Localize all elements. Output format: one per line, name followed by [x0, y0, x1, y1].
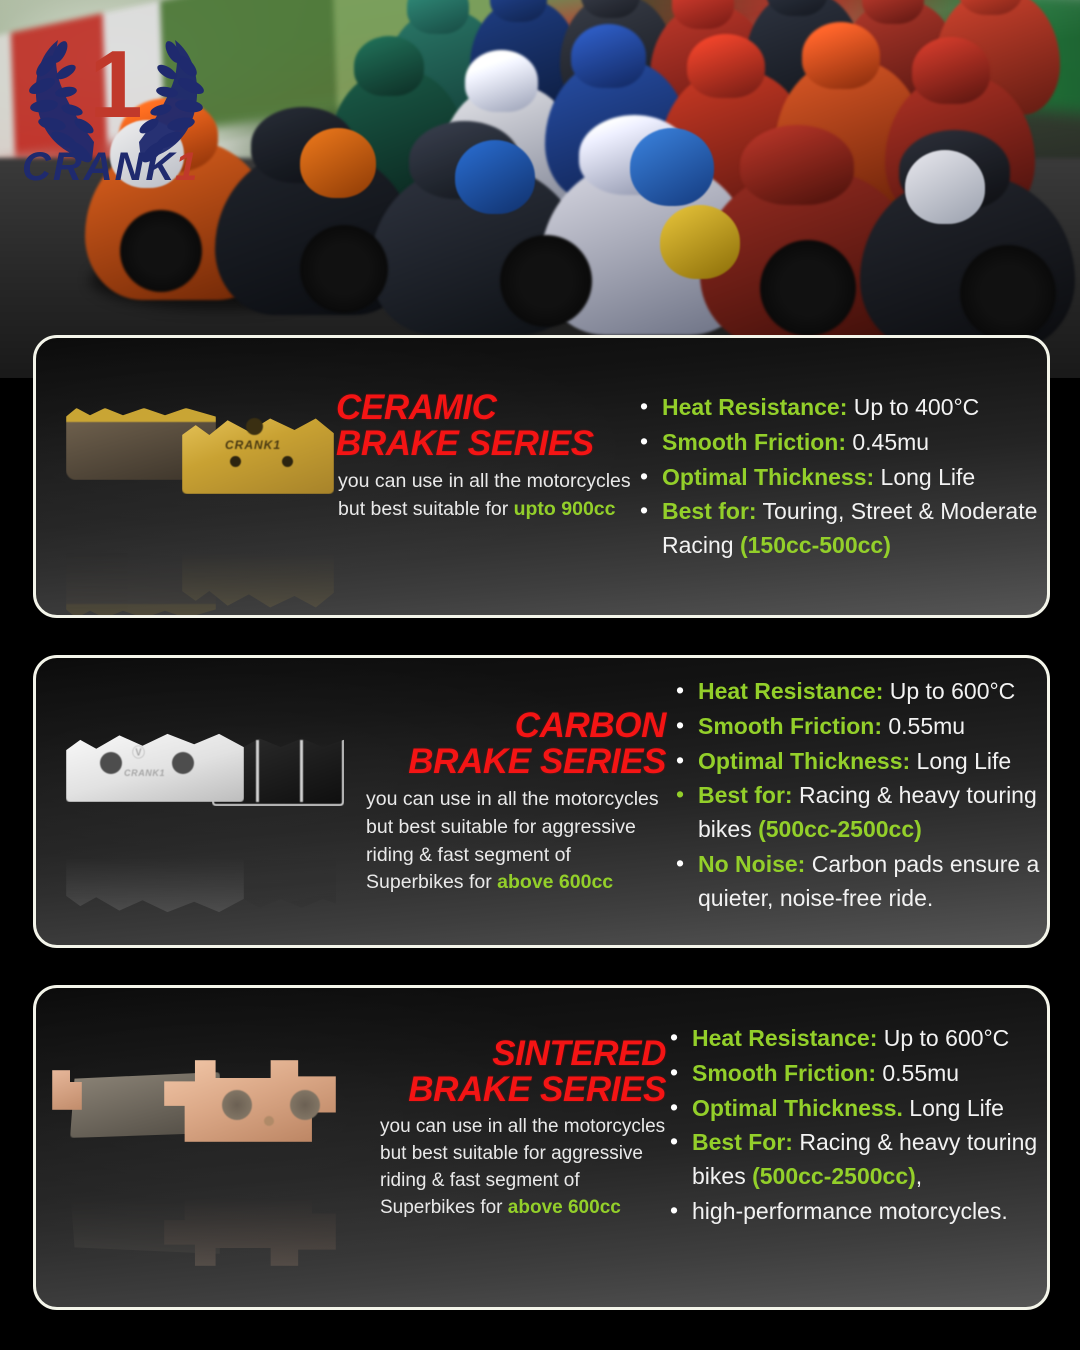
ceramic-spec-list: Heat Resistance: Up to 400°C Smooth Fric…	[636, 391, 1039, 563]
wheel-icon	[500, 235, 592, 327]
carbon-description: you can use in all the motorcycles but b…	[340, 786, 666, 897]
brake-pad-friction-slot	[256, 740, 259, 802]
helmet-icon	[905, 150, 985, 224]
brake-pad-rivet	[282, 456, 293, 467]
spec-value: Up to 600°C	[877, 1025, 1009, 1051]
spec-key: Best for:	[662, 498, 757, 524]
spec-cc-range: (150cc-500cc)	[740, 532, 891, 558]
spec-value: Long Life	[903, 1095, 1004, 1121]
spec-key: Smooth Friction:	[662, 429, 846, 455]
carbon-description-highlight: above 600cc	[497, 871, 613, 893]
helmet-icon	[660, 205, 740, 279]
spec-item: Smooth Friction: 0.55mu	[672, 710, 1047, 744]
wheel-icon	[960, 245, 1056, 341]
spec-value: 0.45mu	[846, 429, 929, 455]
spec-item: Optimal Thickness. Long Life	[666, 1092, 1047, 1126]
carbon-title-line1: CARBON	[515, 706, 666, 745]
brake-pad-engraving: Ⓥ	[132, 746, 145, 759]
ceramic-description: you can use in all the motorcycles but b…	[336, 468, 636, 523]
sintered-heading-block: SINTERED BRAKE SERIES you can use in all…	[336, 988, 666, 1307]
spec-tail: ,	[916, 1163, 922, 1189]
brake-pad-rivet	[264, 1116, 274, 1126]
spec-value: Long Life	[874, 464, 975, 490]
ceramic-title-line1: CERAMIC	[336, 388, 497, 427]
spec-key: Heat Resistance:	[692, 1025, 877, 1051]
brand-wordmark-accent: 1	[175, 145, 197, 184]
helmet-icon	[300, 128, 376, 198]
sintered-title-line2: BRAKE SERIES	[408, 1070, 666, 1109]
ceramic-title-line2: BRAKE SERIES	[336, 424, 594, 463]
spec-item: Optimal Thickness: Long Life	[636, 461, 1039, 495]
product-card-sintered[interactable]: SINTERED BRAKE SERIES you can use in all…	[33, 985, 1050, 1310]
spec-item: Heat Resistance: Up to 400°C	[636, 391, 1039, 425]
ceramic-heading-block: CERAMIC BRAKE SERIES you can use in all …	[336, 338, 636, 615]
spec-item: Heat Resistance: Up to 600°C	[666, 1022, 1047, 1056]
spec-item: Best For: Racing & heavy touring bikes (…	[666, 1126, 1047, 1194]
spec-key: Smooth Friction:	[692, 1060, 876, 1086]
brake-pad-hole	[222, 1090, 252, 1120]
wreath-number: 1	[89, 31, 142, 138]
ceramic-specs: Heat Resistance: Up to 400°C Smooth Fric…	[636, 338, 1047, 615]
brake-pad-rivet	[230, 456, 241, 467]
spec-item: Smooth Friction: 0.45mu	[636, 426, 1039, 460]
wheel-icon	[760, 240, 856, 336]
sintered-spec-list: Heat Resistance: Up to 600°C Smooth Fric…	[666, 1022, 1047, 1229]
carbon-pad-image: Ⓥ CRANK1	[36, 658, 336, 945]
product-card-ceramic[interactable]: CRANK1 CERAMIC BRAKE SERIES you can use …	[33, 335, 1050, 618]
spec-value: Up to 400°C	[847, 394, 979, 420]
sintered-description: you can use in all the motorcycles but b…	[346, 1114, 666, 1222]
spec-item: Heat Resistance: Up to 600°C	[672, 675, 1047, 709]
helmet-icon	[630, 128, 714, 206]
spec-key: Optimal Thickness.	[692, 1095, 903, 1121]
spec-value: 0.55mu	[876, 1060, 959, 1086]
brake-pad-hole	[246, 418, 263, 435]
spec-item: Optimal Thickness: Long Life	[672, 745, 1047, 779]
spec-value: high-performance motorcycles.	[692, 1198, 1008, 1224]
carbon-heading-block: CARBON BRAKE SERIES you can use in all t…	[336, 658, 666, 945]
spec-item: Best for: Touring, Street & Moderate Rac…	[636, 495, 1039, 563]
brake-pad-tab	[52, 1070, 82, 1110]
brake-pad-backing	[66, 728, 244, 802]
sintered-title-line1: SINTERED	[492, 1034, 666, 1073]
brake-pad-hole	[100, 752, 122, 774]
spec-item: Best for: Racing & heavy touring bikes (…	[672, 779, 1047, 847]
brake-pad-hole	[172, 752, 194, 774]
carbon-series-title: CARBON BRAKE SERIES	[340, 708, 666, 779]
wheel-icon	[120, 210, 202, 292]
crank1-logo-svg: 1 CRANK 1	[14, 14, 219, 184]
spec-cc-range: (500cc-2500cc)	[758, 816, 922, 842]
brand-wordmark: CRANK	[22, 145, 178, 184]
spec-key: No Noise:	[698, 851, 805, 877]
carbon-specs: Heat Resistance: Up to 600°C Smooth Fric…	[666, 658, 1047, 945]
spec-key: Heat Resistance:	[698, 678, 883, 704]
hero-racing-image: 1 CRANK 1	[0, 0, 1080, 378]
crank1-logo: 1 CRANK 1	[14, 14, 219, 184]
spec-value: Up to 600°C	[883, 678, 1015, 704]
spec-key: Optimal Thickness:	[662, 464, 874, 490]
carbon-spec-list: Heat Resistance: Up to 600°C Smooth Fric…	[672, 675, 1047, 916]
spec-item: No Noise: Carbon pads ensure a quieter, …	[672, 848, 1047, 916]
carbon-title-line2: BRAKE SERIES	[408, 742, 666, 781]
spec-cc-range: (500cc-2500cc)	[752, 1163, 916, 1189]
sintered-specs: Heat Resistance: Up to 600°C Smooth Fric…	[666, 988, 1047, 1307]
brake-pad-engraving: CRANK1	[225, 438, 281, 452]
helmet-icon	[455, 140, 535, 214]
sintered-series-title: SINTERED BRAKE SERIES	[346, 1036, 666, 1107]
ceramic-pad-image: CRANK1	[36, 338, 336, 615]
infographic-page: 1 CRANK 1 CRANK1	[0, 0, 1080, 1350]
spec-key: Heat Resistance:	[662, 394, 847, 420]
ceramic-description-highlight: upto 900cc	[514, 498, 616, 520]
spec-item: Smooth Friction: 0.55mu	[666, 1057, 1047, 1091]
product-card-carbon[interactable]: Ⓥ CRANK1 CARBON BRAKE SERIES you can use…	[33, 655, 1050, 948]
spec-key: Smooth Friction:	[698, 713, 882, 739]
brake-pad-friction-slot	[300, 740, 303, 802]
brake-pad-hole	[290, 1090, 320, 1120]
ceramic-series-title: CERAMIC BRAKE SERIES	[336, 390, 636, 461]
sintered-pad-image	[36, 988, 336, 1307]
spec-key: Optimal Thickness:	[698, 748, 910, 774]
spec-value: Long Life	[910, 748, 1011, 774]
spec-key: Best for:	[698, 782, 793, 808]
brake-pad-engraving: CRANK1	[124, 768, 165, 778]
wheel-icon	[300, 225, 388, 313]
sintered-description-highlight: above 600cc	[508, 1197, 621, 1218]
spec-value: 0.55mu	[882, 713, 965, 739]
spec-item: high-performance motorcycles.	[666, 1195, 1047, 1229]
spec-key: Best For:	[692, 1129, 793, 1155]
